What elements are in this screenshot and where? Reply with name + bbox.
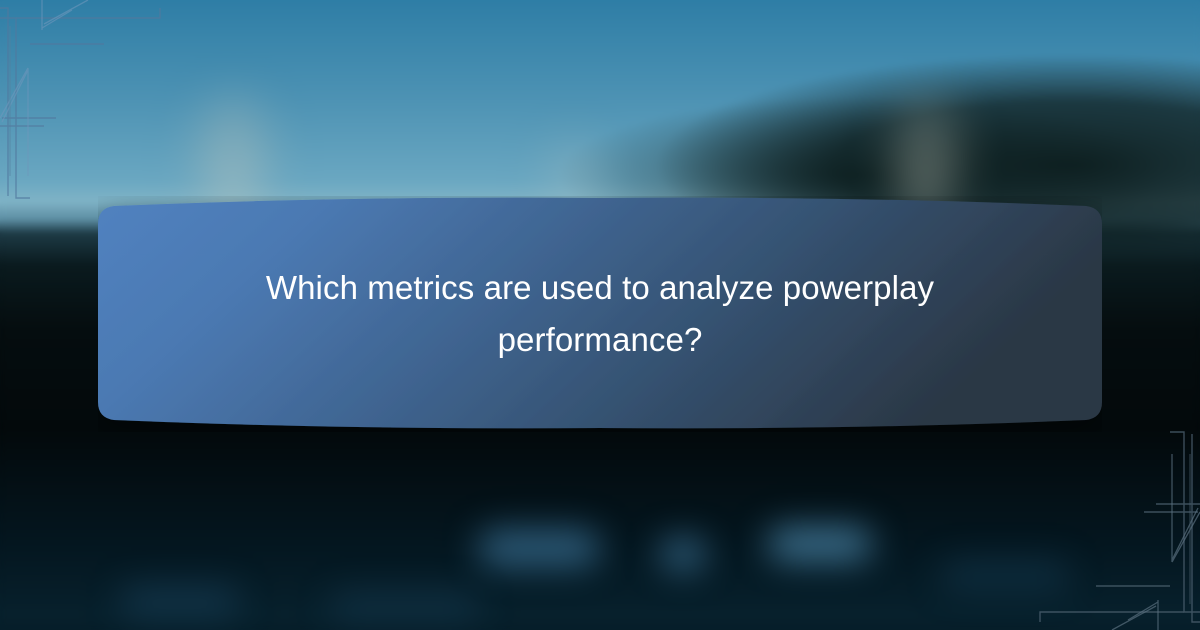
question-card: Which metrics are used to analyze powerp… [98,196,1102,432]
question-text: Which metrics are used to analyze powerp… [200,262,1000,366]
question-card-content: Which metrics are used to analyze powerp… [98,196,1102,432]
screenshot-stage: Which metrics are used to analyze powerp… [0,0,1200,630]
